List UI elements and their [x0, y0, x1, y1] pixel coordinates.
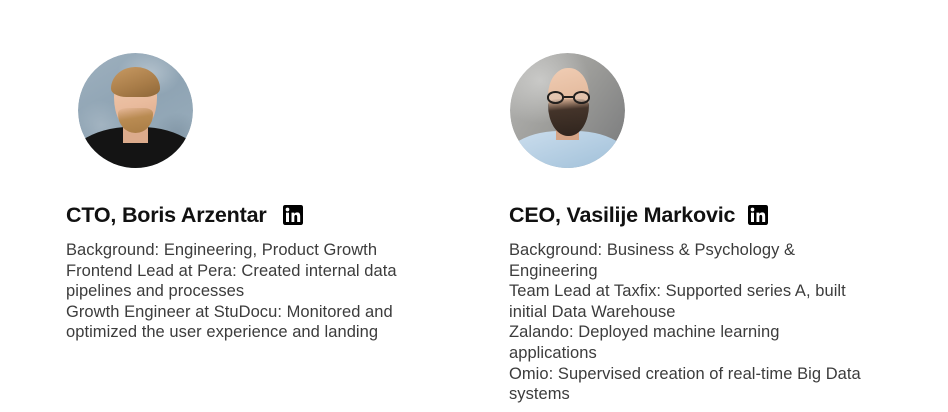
bio-line: Background: Engineering, Product Growth [66, 240, 414, 261]
page-title: CEO, Vasilije Markovic [509, 203, 735, 228]
avatar-glasses-shape [547, 91, 591, 104]
avatar-photo-vasilije [510, 53, 625, 168]
linkedin-icon[interactable] [748, 205, 768, 225]
avatar [510, 53, 625, 168]
bio-line: Team Lead at Taxfix: Supported series A,… [509, 281, 861, 322]
avatar-hair-shape [111, 67, 159, 97]
bio-line: Zalando: Deployed machine learning appli… [509, 322, 861, 363]
profile-bio: Background: Engineering, Product Growth … [66, 240, 414, 343]
bio-line: Growth Engineer at StuDocu: Monitored an… [66, 302, 414, 343]
bio-line: Frontend Lead at Pera: Created internal … [66, 261, 414, 302]
profile-bio: Background: Business & Psychology & Engi… [509, 240, 861, 405]
avatar-beard-shape [548, 99, 589, 136]
linkedin-icon[interactable] [283, 205, 303, 225]
profile-card-vasilije: CEO, Vasilije Markovic Background: Busin… [509, 53, 929, 405]
avatar [78, 53, 193, 168]
profile-heading: CTO, Boris Arzentar [66, 202, 466, 228]
team-profiles-section: CTO, Boris Arzentar Background: Engineer… [0, 0, 948, 412]
avatar-photo-boris [78, 53, 193, 168]
bio-line: Background: Business & Psychology & Engi… [509, 240, 861, 281]
profile-card-boris: CTO, Boris Arzentar Background: Engineer… [66, 53, 466, 343]
page-title: CTO, Boris Arzentar [66, 203, 267, 228]
bio-line: Omio: Supervised creation of real-time B… [509, 364, 861, 405]
profile-heading: CEO, Vasilije Markovic [509, 202, 929, 228]
